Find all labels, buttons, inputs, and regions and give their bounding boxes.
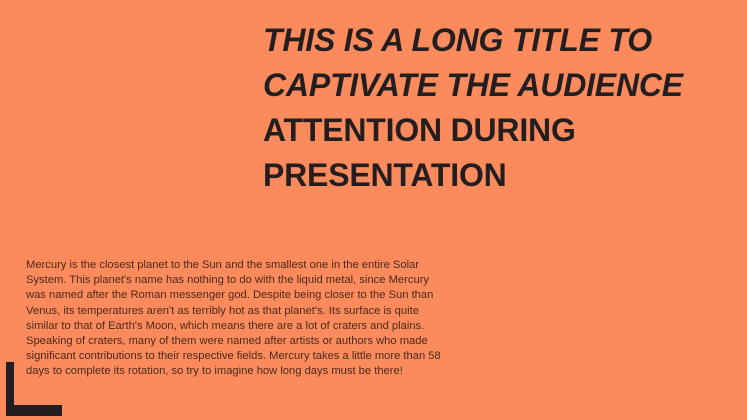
body-paragraph: Mercury is the closest planet to the Sun… [26,258,450,380]
title-line-1: THIS IS A LONG TITLE TO [263,18,693,63]
slide-title: THIS IS A LONG TITLE TO CAPTIVATE THE AU… [263,18,693,198]
presentation-slide: THIS IS A LONG TITLE TO CAPTIVATE THE AU… [0,0,747,420]
slide-body: Mercury is the closest planet to the Sun… [26,258,450,380]
bracket-horizontal-arm [6,405,62,416]
title-line-4: PRESENTATION [263,153,693,198]
title-line-3: ATTENTION DURING [263,108,693,153]
bracket-vertical-arm [6,362,14,416]
title-line-2: CAPTIVATE THE AUDIENCE [263,63,693,108]
